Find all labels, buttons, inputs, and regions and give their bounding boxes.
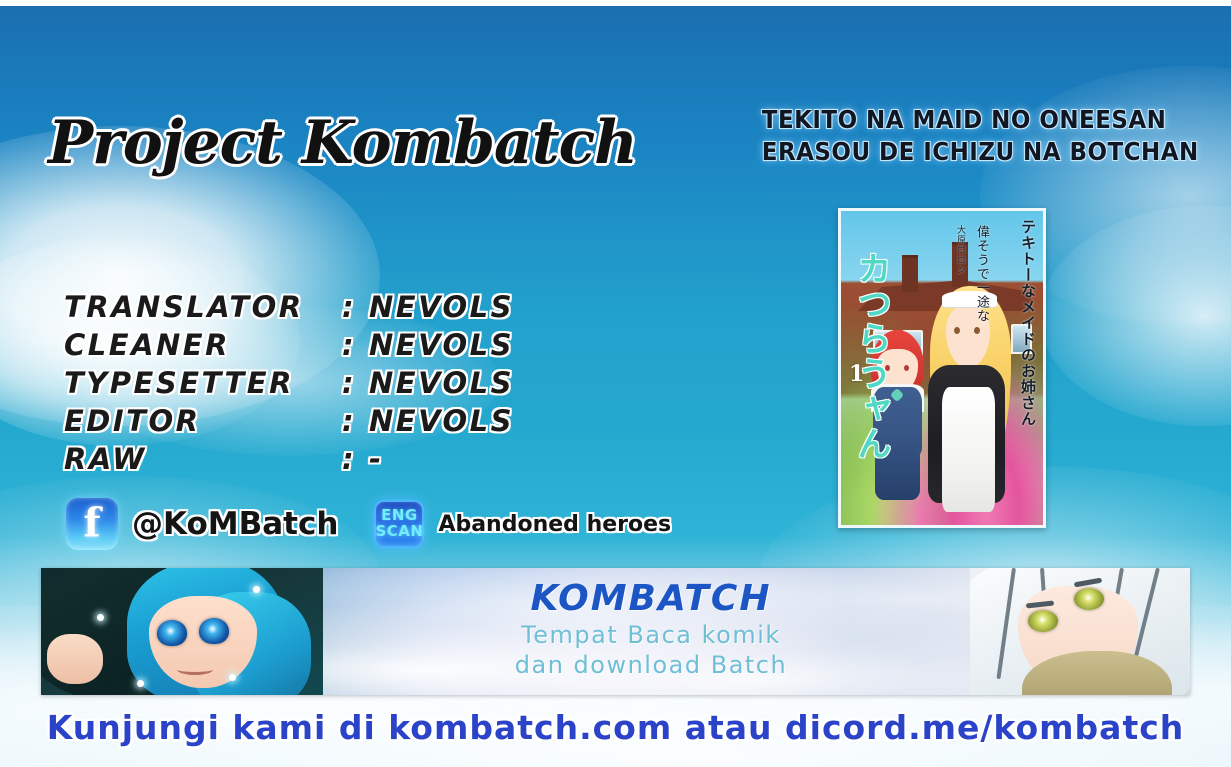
credit-row: CLEANER : NEVOLS [64, 326, 584, 364]
promo-left-artwork [41, 568, 323, 695]
credit-row: EDITOR : NEVOLS [64, 402, 584, 440]
sparkle-decoration [137, 680, 144, 687]
credit-colon: : [342, 402, 356, 440]
credit-value-editor: NEVOLS [369, 402, 514, 440]
credit-colon: : [342, 440, 356, 478]
cloud-decoration [1040, 206, 1231, 426]
character-eye [157, 620, 187, 646]
credit-row: TYPESETTER : NEVOLS [64, 364, 584, 402]
credit-colon: : [342, 288, 356, 326]
credit-label-translator: TRANSLATOR [64, 288, 304, 326]
scan-group-name: Abandoned heroes [438, 512, 671, 537]
facebook-handle[interactable]: @KoMBatch [132, 506, 338, 542]
credit-value-translator: NEVOLS [369, 288, 514, 326]
sparkle-decoration [229, 674, 236, 681]
credit-colon: : [342, 364, 356, 402]
eng-badge-line2: SCAN [375, 524, 423, 540]
eng-scan-badge-icon[interactable]: ENG SCAN [374, 500, 424, 548]
cover-japanese-subtitle: 偉そうで一途な [972, 225, 991, 323]
facebook-icon[interactable] [66, 498, 118, 550]
manga-cover-thumbnail: テキトーなメイドのお姉さん 偉そうで一途な 大原ロロン カつらうャん 1 [838, 208, 1046, 528]
credit-label-raw: RAW [64, 440, 147, 478]
character-eye [1028, 610, 1058, 632]
credits-list: TRANSLATOR : NEVOLS CLEANER : NEVOLS TYP… [64, 288, 584, 478]
cover-japanese-author: 大原ロロン [954, 225, 967, 275]
footer-visit-text: Kunjungi kami di kombatch.com atau dicor… [0, 708, 1231, 747]
mansion-chimney [902, 255, 918, 292]
character-eye [199, 618, 229, 644]
credit-label-typesetter: TYPESETTER [64, 364, 294, 402]
credit-label-cleaner: CLEANER [64, 326, 230, 364]
credit-value-raw: - [369, 440, 384, 478]
promo-subtitle-line2: dan download Batch [371, 651, 931, 679]
maid-apron [942, 387, 995, 513]
credits-page: Project Kombatch TEKITO NA MAID NO ONEES… [0, 0, 1231, 767]
promo-subtitle-line1: Tempat Baca komik [371, 621, 931, 649]
credit-value-cleaner: NEVOLS [369, 326, 514, 364]
sparkle-decoration [253, 586, 260, 593]
series-title: TEKITO NA MAID NO ONEESAN ERASOU DE ICHI… [762, 104, 1148, 168]
group-logo: Project Kombatch [48, 108, 637, 178]
character-mouth [177, 664, 213, 675]
sparkle-decoration [97, 614, 104, 621]
promo-text-block: KOMBATCH Tempat Baca komik dan download … [371, 578, 931, 679]
credit-label-editor: EDITOR [64, 402, 200, 440]
cover-volume-number: 1 [849, 361, 864, 387]
credit-row: TRANSLATOR : NEVOLS [64, 288, 584, 326]
promo-right-artwork [970, 568, 1190, 695]
credit-colon: : [342, 326, 356, 364]
series-title-line2: ERASOU DE ICHIZU NA BOTCHAN [762, 136, 1148, 168]
credit-row: RAW : - [64, 440, 584, 478]
character-hand [47, 634, 103, 684]
boy-eye [904, 365, 909, 371]
cover-japanese-large-text: カつらうャん [847, 251, 896, 461]
series-title-line1: TEKITO NA MAID NO ONEESAN [762, 105, 1167, 134]
character-eye [1074, 588, 1104, 610]
cover-japanese-title: テキトーなメイドのお姉さん [1018, 219, 1039, 427]
promo-banner[interactable]: KOMBATCH Tempat Baca komik dan download … [41, 568, 1190, 695]
credit-value-typesetter: NEVOLS [369, 364, 514, 402]
social-links-row: @KoMBatch ENG SCAN Abandoned heroes [66, 498, 671, 550]
promo-title: KOMBATCH [371, 578, 931, 619]
